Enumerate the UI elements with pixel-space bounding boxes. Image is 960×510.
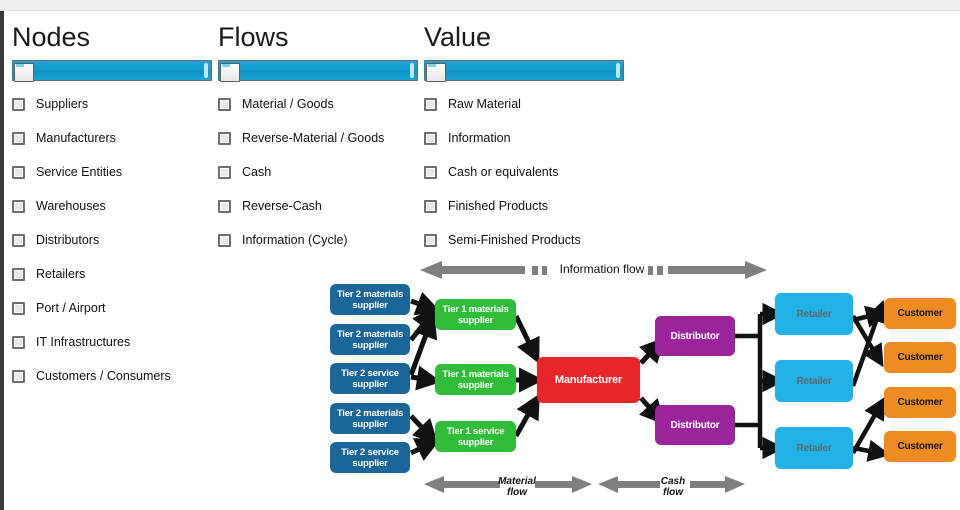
nodes-slider-handle[interactable] xyxy=(14,63,34,82)
node-label-line1: Tier 1 service xyxy=(447,426,505,437)
panel-flows: Flows Material / Goods Reverse-Material … xyxy=(218,22,418,264)
nodes-slider[interactable] xyxy=(12,60,212,81)
node-label-line1: Tier 1 materials xyxy=(442,304,508,315)
node-customer[interactable]: Customer xyxy=(884,298,956,329)
value-slider-handle[interactable] xyxy=(426,63,446,82)
list-item-label: Retailers xyxy=(36,267,85,281)
list-item[interactable]: Material / Goods xyxy=(218,94,418,114)
node-distributor[interactable]: Distributor xyxy=(655,316,735,356)
list-item[interactable]: Manufacturers xyxy=(12,128,212,148)
list-item[interactable]: Retailers xyxy=(12,264,212,284)
checkbox-icon[interactable] xyxy=(218,132,231,145)
checkbox-icon[interactable] xyxy=(12,98,25,111)
panel-nodes: Nodes Suppliers Manufacturers Service En… xyxy=(12,22,212,400)
node-tier2-supplier[interactable]: Tier 2 servicesupplier xyxy=(330,363,410,394)
node-label-line1: Tier 2 service xyxy=(341,447,399,458)
list-item-label: Warehouses xyxy=(36,199,106,213)
diagram-connectors xyxy=(320,258,960,510)
node-manufacturer[interactable]: Manufacturer xyxy=(537,357,640,403)
supply-chain-diagram: Tier 2 materialssupplier Tier 2 material… xyxy=(320,258,960,510)
nodes-slider-end-cap xyxy=(204,63,208,78)
panel-title-value: Value xyxy=(424,22,624,52)
list-item-label: Port / Airport xyxy=(36,301,105,315)
flows-check-list: Material / Goods Reverse-Material / Good… xyxy=(218,94,418,250)
label-material-flow-line1: Material xyxy=(498,476,536,487)
node-tier2-supplier[interactable]: Tier 2 materialssupplier xyxy=(330,284,410,315)
list-item-label: Reverse-Material / Goods xyxy=(242,131,384,145)
node-tier2-supplier[interactable]: Tier 2 materialssupplier xyxy=(330,324,410,355)
list-item[interactable]: Information (Cycle) xyxy=(218,230,418,250)
node-label-line1: Tier 2 materials xyxy=(337,408,403,419)
checkbox-icon[interactable] xyxy=(12,200,25,213)
list-item[interactable]: Raw Material xyxy=(424,94,624,114)
list-item[interactable]: IT Infrastructures xyxy=(12,332,212,352)
node-tier1-supplier[interactable]: Tier 1 materialssupplier xyxy=(435,364,516,395)
node-label-line2: supplier xyxy=(458,380,493,391)
label-cash-flow-line1: Cash xyxy=(661,476,685,487)
app-window: Nodes Suppliers Manufacturers Service En… xyxy=(0,0,960,510)
list-item-label: IT Infrastructures xyxy=(36,335,130,349)
list-item[interactable]: Customers / Consumers xyxy=(12,366,212,386)
nodes-check-list: Suppliers Manufacturers Service Entities… xyxy=(12,94,212,386)
node-tier2-supplier[interactable]: Tier 2 materialssupplier xyxy=(330,403,410,434)
checkbox-icon[interactable] xyxy=(424,200,437,213)
node-label-line1: Tier 1 materials xyxy=(442,369,508,380)
node-label-line2: supplier xyxy=(352,419,387,430)
list-item-label: Reverse-Cash xyxy=(242,199,322,213)
list-item-label: Manufacturers xyxy=(36,131,116,145)
flows-slider[interactable] xyxy=(218,60,418,81)
label-cash-flow-line2: flow xyxy=(663,487,683,498)
list-item[interactable]: Distributors xyxy=(12,230,212,250)
checkbox-icon[interactable] xyxy=(12,234,25,247)
list-item[interactable]: Semi-Finished Products xyxy=(424,230,624,250)
checkbox-icon[interactable] xyxy=(218,166,231,179)
checkbox-icon[interactable] xyxy=(218,200,231,213)
list-item-label: Raw Material xyxy=(448,97,521,111)
node-tier1-supplier[interactable]: Tier 1 materialssupplier xyxy=(435,299,516,330)
node-label-line1: Tier 2 materials xyxy=(337,329,403,340)
list-item[interactable]: Suppliers xyxy=(12,94,212,114)
list-item[interactable]: Cash xyxy=(218,162,418,182)
checkbox-icon[interactable] xyxy=(12,370,25,383)
node-label-line2: supplier xyxy=(458,315,493,326)
value-slider[interactable] xyxy=(424,60,624,81)
checkbox-icon[interactable] xyxy=(218,234,231,247)
node-label-line1: Tier 2 materials xyxy=(337,289,403,300)
node-distributor[interactable]: Distributor xyxy=(655,405,735,445)
label-information-flow: Information flow xyxy=(552,264,652,275)
node-label-line2: supplier xyxy=(352,379,387,390)
list-item-label: Customers / Consumers xyxy=(36,369,171,383)
window-top-band xyxy=(0,0,960,11)
list-item-label: Distributors xyxy=(36,233,99,247)
node-label-line2: supplier xyxy=(352,300,387,311)
checkbox-icon[interactable] xyxy=(424,234,437,247)
list-item[interactable]: Cash or equivalents xyxy=(424,162,624,182)
label-material-flow: Material flow xyxy=(492,476,542,498)
checkbox-icon[interactable] xyxy=(424,132,437,145)
checkbox-icon[interactable] xyxy=(12,336,25,349)
checkbox-icon[interactable] xyxy=(12,302,25,315)
label-cash-flow: Cash flow xyxy=(650,476,696,498)
node-retailer[interactable]: Retailer xyxy=(775,293,853,335)
label-material-flow-line2: flow xyxy=(507,487,527,498)
list-item-label: Cash or equivalents xyxy=(448,165,558,179)
node-customer[interactable]: Customer xyxy=(884,387,956,418)
node-tier1-supplier[interactable]: Tier 1 servicesupplier xyxy=(435,421,516,452)
list-item-label: Material / Goods xyxy=(242,97,334,111)
panel-title-nodes: Nodes xyxy=(12,22,212,52)
list-item[interactable]: Information xyxy=(424,128,624,148)
panel-title-flows: Flows xyxy=(218,22,418,52)
list-item[interactable]: Reverse-Material / Goods xyxy=(218,128,418,148)
checkbox-icon[interactable] xyxy=(218,98,231,111)
value-slider-end-cap xyxy=(616,63,620,78)
value-check-list: Raw Material Information Cash or equival… xyxy=(424,94,624,250)
list-item[interactable]: Port / Airport xyxy=(12,298,212,318)
flows-slider-end-cap xyxy=(410,63,414,78)
node-label-line1: Tier 2 service xyxy=(341,368,399,379)
list-item-label: Information (Cycle) xyxy=(242,233,348,247)
node-label-line2: supplier xyxy=(352,458,387,469)
checkbox-icon[interactable] xyxy=(12,268,25,281)
window-left-rail xyxy=(0,11,4,510)
checkbox-icon[interactable] xyxy=(424,98,437,111)
list-item-label: Suppliers xyxy=(36,97,88,111)
checkbox-icon[interactable] xyxy=(424,166,437,179)
node-customer[interactable]: Customer xyxy=(884,431,956,462)
node-retailer[interactable]: Retailer xyxy=(775,427,853,469)
checkbox-icon[interactable] xyxy=(12,132,25,145)
flows-slider-handle[interactable] xyxy=(220,63,240,82)
node-retailer[interactable]: Retailer xyxy=(775,360,853,402)
list-item[interactable]: Service Entities xyxy=(12,162,212,182)
list-item[interactable]: Reverse-Cash xyxy=(218,196,418,216)
node-label-line2: supplier xyxy=(458,437,493,448)
list-item-label: Finished Products xyxy=(448,199,548,213)
panel-value: Value Raw Material Information Cash or e… xyxy=(424,22,624,264)
list-item-label: Information xyxy=(448,131,511,145)
list-item-label: Service Entities xyxy=(36,165,122,179)
node-label-line2: supplier xyxy=(352,340,387,351)
checkbox-icon[interactable] xyxy=(12,166,25,179)
list-item-label: Semi-Finished Products xyxy=(448,233,581,247)
list-item[interactable]: Warehouses xyxy=(12,196,212,216)
list-item-label: Cash xyxy=(242,165,271,179)
node-customer[interactable]: Customer xyxy=(884,342,956,373)
node-tier2-supplier[interactable]: Tier 2 servicesupplier xyxy=(330,442,410,473)
list-item[interactable]: Finished Products xyxy=(424,196,624,216)
